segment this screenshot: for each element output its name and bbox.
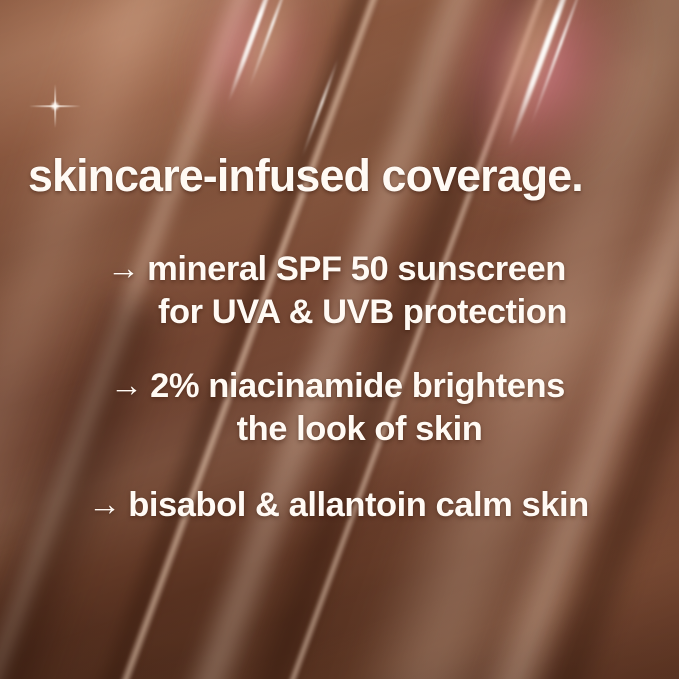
- claim-text: 2% niacinamide brightens: [150, 367, 565, 405]
- claim-line: →2% niacinamide brightens: [0, 365, 679, 408]
- claim-line: →mineral SPF 50 sunscreen: [0, 248, 679, 291]
- claim-text: mineral SPF 50 sunscreen: [147, 250, 566, 288]
- product-claims-graphic: skincare-infused coverage. →mineral SPF …: [0, 0, 679, 679]
- list-item: →bisabol & allantoin calm skin: [0, 484, 679, 527]
- content-layer: skincare-infused coverage. →mineral SPF …: [0, 0, 679, 679]
- claim-line: →bisabol & allantoin calm skin: [0, 484, 679, 527]
- claim-line: the look of skin: [40, 408, 679, 451]
- arrow-right-icon: →: [110, 365, 143, 406]
- claim-text: bisabol & allantoin calm skin: [128, 486, 588, 524]
- page-title: skincare-infused coverage.: [28, 153, 649, 199]
- arrow-right-icon: →: [88, 484, 121, 525]
- arrow-right-icon: →: [107, 248, 140, 289]
- claim-line: for UVA & UVB protection: [46, 291, 679, 334]
- list-item: →2% niacinamide brightens the look of sk…: [0, 365, 679, 450]
- list-item: →mineral SPF 50 sunscreen for UVA & UVB …: [0, 248, 679, 333]
